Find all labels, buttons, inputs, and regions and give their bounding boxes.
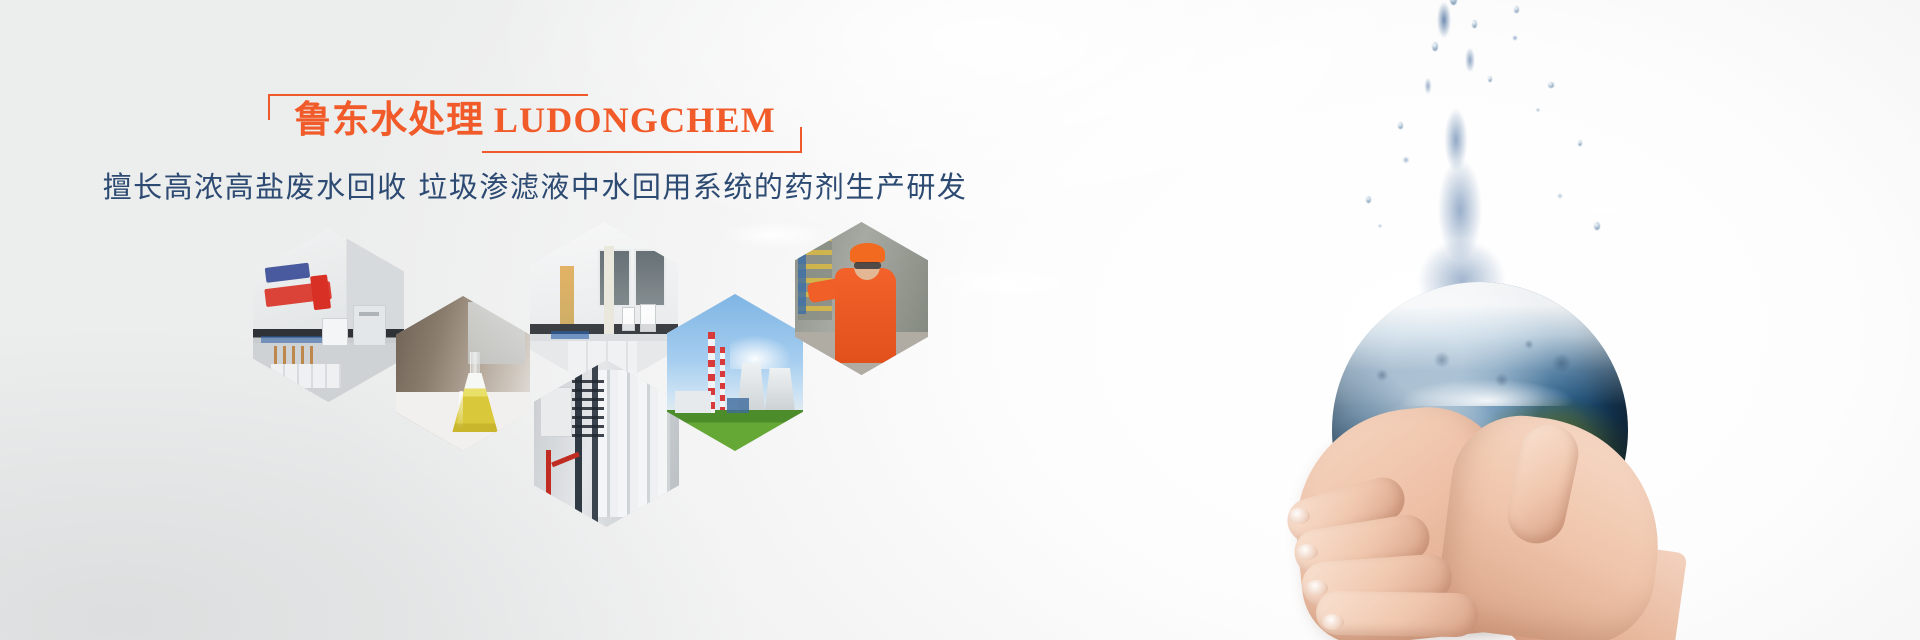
safety-helmet — [850, 243, 886, 263]
laboratory-room-image — [253, 228, 404, 402]
photo-tile-laboratory-room — [253, 228, 404, 402]
brand-title: 鲁东水处理 LUDONGCHEM — [294, 98, 776, 143]
power-plant-image — [667, 294, 803, 451]
photo-tile-membrane-skid — [534, 360, 679, 527]
chemical-flask-image — [396, 296, 530, 451]
erlenmeyer-flask — [452, 352, 498, 433]
photo-tile-power-plant — [667, 294, 803, 451]
brand-title-english: LUDONGCHEM — [494, 100, 776, 140]
banner-text-block: 鲁东水处理 LUDONGCHEM 擅长高浓高盐废水回收 垃圾渗滤液中水回用系统的… — [0, 92, 1070, 207]
fingernail — [1322, 614, 1344, 630]
water-globe-hero-graphic — [1160, 0, 1920, 640]
photo-tile-chemical-flask — [396, 296, 530, 451]
photo-tile-field-engineer — [795, 222, 928, 375]
banner-subtitle: 擅长高浓高盐废水回收 垃圾渗滤液中水回用系统的药剂生产研发 — [0, 167, 1070, 207]
brand-title-chinese: 鲁东水处理 — [294, 100, 484, 141]
brand-title-group: 鲁东水处理 LUDONGCHEM — [268, 92, 802, 153]
wall-slogan-sign — [262, 258, 353, 327]
little-finger — [1316, 591, 1479, 638]
fingernail — [1296, 544, 1318, 560]
cupped-hands — [1278, 392, 1678, 640]
water-splash — [1310, 0, 1640, 320]
field-engineer-image — [795, 222, 928, 375]
hero-banner: 鲁东水处理 LUDONGCHEM 擅长高浓高盐废水回收 垃圾渗滤液中水回用系统的… — [0, 0, 1920, 640]
fingernail — [1288, 508, 1310, 524]
membrane-skid-image — [534, 360, 679, 527]
fingernail — [1306, 580, 1328, 596]
